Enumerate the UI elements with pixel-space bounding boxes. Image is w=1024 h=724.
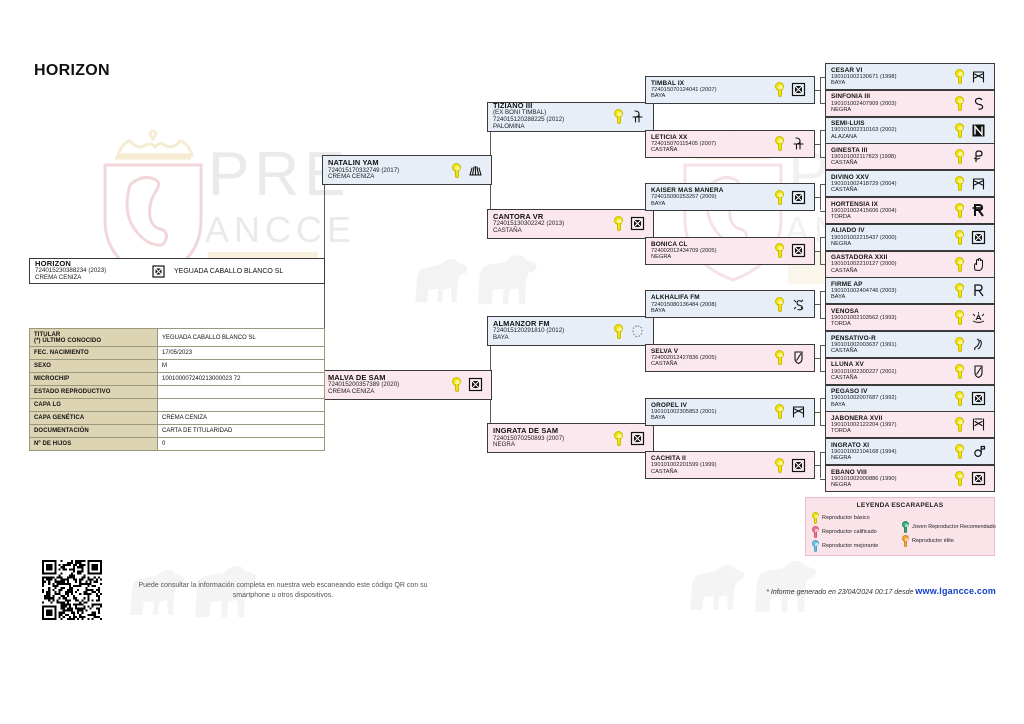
horse-number: 724015120291810 (2012) <box>493 328 614 335</box>
horse-coat: CASTAÑA <box>493 228 614 235</box>
horse-coat: NEGRA <box>831 241 955 247</box>
horse-name: VENOSA <box>831 308 955 315</box>
connector-line <box>820 237 821 264</box>
rosette-green-icon <box>902 521 909 533</box>
brand-hand-icon <box>970 257 986 272</box>
connector-line <box>820 184 821 211</box>
pedigree-box-g4-3[interactable]: SEMI-LUIS190101002310163 (2002)ALAZANA <box>825 117 995 144</box>
rosette-icon <box>955 123 964 138</box>
brand-a-rays-icon <box>970 310 986 325</box>
pedigree-box-g4-11[interactable]: PENSATIVO-R190101002003637 (1991)CASTAÑA <box>825 331 995 358</box>
horse-coat: BAYA <box>651 415 775 421</box>
brand-hook-four-icon <box>629 109 645 124</box>
rosette-icon <box>775 350 784 365</box>
info-value: 17/05/2023 <box>158 347 325 360</box>
horse-name: PENSATIVO-R <box>831 335 955 342</box>
horse-name: ALKHALIFA FM <box>651 294 775 301</box>
rosette-icon <box>452 163 461 178</box>
legend-label: Reproductor mejorante <box>822 543 878 549</box>
info-key: TITULAR(*) ÚLTIMO CONOCIDO <box>30 329 158 347</box>
legend-item: Reproductor mejorante <box>812 540 898 552</box>
legend-item: Reproductor básico <box>812 512 898 524</box>
legend-item: Reproductor élite <box>902 535 988 547</box>
info-key: FEC. NACIMIENTO <box>30 347 158 360</box>
horse-name: LLUNA XV <box>831 361 955 368</box>
rosette-icon <box>775 243 784 258</box>
brand-s-rays-icon <box>790 297 806 312</box>
info-row: ESTADO REPRODUCTIVO <box>30 386 325 399</box>
pedigree-box-g4-4[interactable]: GINESTA III190101002117823 (1998)CASTAÑA <box>825 143 995 170</box>
horse-name: GINESTA III <box>831 147 955 154</box>
horse-name: EBANO VIII <box>831 469 955 476</box>
brand-bowtie-bars-icon <box>970 417 986 432</box>
info-key: SEXO <box>30 360 158 373</box>
rosette-icon <box>955 364 964 379</box>
pedigree-box-g4-14[interactable]: JABONERA XVII190101002122204 (1997)TORDA <box>825 411 995 438</box>
rosette-icon <box>955 69 964 84</box>
rosette-icon <box>955 176 964 191</box>
horse-coat: BAYA <box>831 402 955 408</box>
connector-line <box>820 398 821 425</box>
horse-coat: PALOMINA <box>493 124 614 131</box>
pedigree-box-g4-6[interactable]: HORTENSIA IX190101002415606 (2004)TORDA <box>825 197 995 224</box>
rosette-icon <box>955 149 964 164</box>
info-value: 100100007240213000023 72 <box>158 373 325 386</box>
brand-crown-rays-icon <box>467 163 483 178</box>
info-row: SEXOM <box>30 360 325 373</box>
rosette-icon <box>775 458 784 473</box>
horse-coat: TORDA <box>831 321 955 327</box>
info-row: Nº DE HIJOS0 <box>30 438 325 451</box>
brand-square-icon <box>150 264 166 279</box>
horse-name: KAISER MAS MANERA <box>651 187 775 194</box>
horse-name: PEGASO IV <box>831 388 955 395</box>
connector-line <box>820 77 821 104</box>
pedigree-box-g3-6[interactable]: SELVA V724002012427836 (2005)CASTAÑA <box>645 344 815 372</box>
rosette-icon <box>452 377 461 392</box>
info-key: DOCUMENTACIÓN <box>30 425 158 438</box>
brand-square-icon <box>629 216 645 231</box>
horse-coat: CASTAÑA <box>651 469 775 475</box>
rosette-orange-icon <box>902 535 909 547</box>
brand-n-block-icon <box>970 123 986 138</box>
pedigree-box-g2-2[interactable]: CANTORA VR724015130302242 (2013)CASTAÑA <box>487 209 654 239</box>
horse-coat: CASTAÑA <box>831 375 955 381</box>
rosette-icon <box>614 216 623 231</box>
horse-coat: BAYA <box>831 80 955 86</box>
info-key: CAPA GENÉTICA <box>30 412 158 425</box>
brand-square-icon <box>790 82 806 97</box>
qr-code <box>42 560 102 620</box>
horse-coat: BAYA <box>493 335 614 342</box>
brand-square-icon <box>970 471 986 486</box>
pedigree-box-g4-7[interactable]: ALIADO IV190101002215437 (2000)NEGRA <box>825 224 995 251</box>
rosette-icon <box>614 109 623 124</box>
legend-label: Reproductor calificado <box>822 529 877 535</box>
horse-name: DIVINO XXV <box>831 174 955 181</box>
brand-square-icon <box>790 243 806 258</box>
info-row: CAPA GENÉTICACREMA CENIZA <box>30 412 325 425</box>
horse-coat: CASTAÑA <box>831 268 955 274</box>
horse-name: SELVA V <box>651 348 775 355</box>
horse-coat: BAYA <box>831 294 955 300</box>
horse-coat: CASTAÑA <box>651 361 775 367</box>
brand-hook-four-icon <box>790 136 806 151</box>
horse-coat: CASTAÑA <box>831 187 955 193</box>
info-value: CREMA CENIZA <box>158 412 325 425</box>
pedigree-box-g2-4[interactable]: INGRATA DE SAM724015070250893 (2007)NEGR… <box>487 423 654 453</box>
horse-name: HORTENSIA IX <box>831 201 955 208</box>
pedigree-box-g4-16[interactable]: EBANO VIII190101002000886 (1990)NEGRA <box>825 465 995 492</box>
brand-square-icon <box>790 458 806 473</box>
pedigree-box-g3-4[interactable]: BONICA CL724002012434709 (2005)NEGRA <box>645 237 815 265</box>
info-value: YEGUADA CABALLO BLANCO SL <box>158 329 325 347</box>
horse-coat: TORDA <box>831 428 955 434</box>
pedigree-box-g1-dam[interactable]: MALVA DE SAM724015200357389 (2020)CREMA … <box>322 370 492 400</box>
brand-bowtie-icon <box>970 176 986 191</box>
pedigree-box-g4-10[interactable]: VENOSA190101002103562 (1993)TORDA <box>825 304 995 331</box>
footer-note: * Informe generado en 23/04/2024 00:17 d… <box>640 586 996 596</box>
horse-name: ALIADO IV <box>831 227 955 234</box>
horse-coat: ALAZANA <box>831 134 955 140</box>
horse-name: OROPEL IV <box>651 402 775 409</box>
horse-coat: CREMA CENIZA <box>328 174 452 181</box>
info-row: MICROCHIP100100007240213000023 72 <box>30 373 325 386</box>
horse-name: FIRME AP <box>831 281 955 288</box>
horse-name: JABONERA XVII <box>831 415 955 422</box>
info-value: 0 <box>158 438 325 451</box>
brand-p-curl-icon <box>970 149 986 164</box>
rosette-icon <box>955 203 964 218</box>
pedigree-box-g3-1[interactable]: TIMBAL IX724015070124041 (2007)BAYA <box>645 76 815 104</box>
brand-r-bold-icon <box>970 203 986 218</box>
horse-coat: BAYA <box>651 93 775 99</box>
legend-label: Joven Reproductor Recomendado <box>912 524 996 530</box>
subject-box[interactable]: HORIZON 724015230388234 (2023) CREMA CEN… <box>29 258 325 284</box>
rosette-yellow-icon <box>812 512 819 524</box>
qr-note: Puede consultar la información completa … <box>128 581 438 601</box>
legend-column-right: Joven Reproductor RecomendadoReproductor… <box>902 512 988 554</box>
pedigree-box-g4-2[interactable]: SINFONIA III190101002407909 (2003)NEGRA <box>825 90 995 117</box>
horse-coat: NEGRA <box>831 455 955 461</box>
info-value <box>158 386 325 399</box>
pedigree-box-g3-2[interactable]: LETICIA XX724015070115405 (2007)CASTAÑA <box>645 130 815 158</box>
horse-coat: CREMA CENIZA <box>328 389 452 396</box>
rosette-icon <box>775 190 784 205</box>
brand-bowtie-icon <box>790 404 806 419</box>
horse-coat: BAYA <box>651 308 775 314</box>
horse-coat: CASTAÑA <box>831 160 955 166</box>
brand-square-icon <box>629 431 645 446</box>
horses-watermark <box>395 235 575 310</box>
info-value <box>158 399 325 412</box>
rosette-icon <box>775 297 784 312</box>
horse-coat: NEGRA <box>831 107 955 113</box>
connector-line <box>820 452 821 479</box>
rosette-icon <box>614 324 623 339</box>
pedigree-box-g4-9[interactable]: FIRME AP190101002404746 (2003)BAYA <box>825 277 995 304</box>
rosette-icon <box>955 471 964 486</box>
legend-item: Reproductor calificado <box>812 526 898 538</box>
footer-url[interactable]: www.lgancce.com <box>915 586 996 596</box>
horse-coat: CASTAÑA <box>831 348 955 354</box>
info-row: DOCUMENTACIÓNCARTA DE TITULARIDAD <box>30 425 325 438</box>
pedigree-box-g4-12[interactable]: LLUNA XV190101002300227 (2001)CASTAÑA <box>825 358 995 385</box>
info-value: CARTA DE TITULARIDAD <box>158 425 325 438</box>
brand-square-icon <box>970 391 986 406</box>
horse-info-table: TITULAR(*) ÚLTIMO CONOCIDOYEGUADA CABALL… <box>29 328 325 451</box>
legend-column-left: Reproductor básicoReproductor calificado… <box>812 512 898 554</box>
brand-shield-slash-icon <box>970 364 986 379</box>
pedigree-box-g3-7[interactable]: OROPEL IV190101002305853 (2001)BAYA <box>645 398 815 426</box>
rosette-blue-icon <box>812 540 819 552</box>
horse-name: LETICIA XX <box>651 134 775 141</box>
horse-name: CACHITA II <box>651 455 775 462</box>
legend-title: LEYENDA ESCARAPELAS <box>812 502 988 509</box>
brand-square-icon <box>467 377 483 392</box>
info-value: M <box>158 360 325 373</box>
rosette-red-icon <box>812 526 819 538</box>
subject-coat: CREMA CENIZA <box>35 275 150 282</box>
brand-bowtie-icon <box>970 69 986 84</box>
info-key: CAPA LG <box>30 399 158 412</box>
brand-shield-slash-icon <box>790 350 806 365</box>
page-title: HORIZON <box>34 62 110 80</box>
info-row: CAPA LG <box>30 399 325 412</box>
rosette-icon <box>775 136 784 151</box>
rosette-icon <box>955 283 964 298</box>
horse-coat: NEGRA <box>651 254 775 260</box>
rosette-icon <box>775 404 784 419</box>
brand-s-icon <box>970 96 986 111</box>
brand-square-icon <box>790 190 806 205</box>
pedigree-box-g2-1[interactable]: TIZIANO III(EX BONI TIMBAL)7240151202882… <box>487 102 654 132</box>
brand-script-icon <box>970 337 986 352</box>
rosette-icon <box>955 391 964 406</box>
horse-name: GASTADORA XXII <box>831 254 955 261</box>
horse-name: SINFONIA III <box>831 93 955 100</box>
pedigree-box-g4-5[interactable]: DIVINO XXV190101002418729 (2004)CASTAÑA <box>825 170 995 197</box>
rosette-icon <box>955 96 964 111</box>
info-key: MICROCHIP <box>30 373 158 386</box>
pedigree-box-g1-sire[interactable]: NATALIN YAM724015170332749 (2017)CREMA C… <box>322 155 492 185</box>
horse-coat: BAYA <box>651 201 775 207</box>
pedigree-box-g4-1[interactable]: CESAR VI190101002130671 (1998)BAYA <box>825 63 995 90</box>
horse-name: SEMI-LUIS <box>831 120 955 127</box>
svg-text:ANCCE: ANCCE <box>205 209 356 250</box>
horse-name: BONICA CL <box>651 241 775 248</box>
connector-line <box>820 291 821 318</box>
connector-line <box>820 130 821 157</box>
rosette-icon <box>955 444 964 459</box>
subject-owner: YEGUADA CABALLO BLANCO SL <box>170 268 320 275</box>
pedigree-box-g3-5[interactable]: ALKHALIFA FM724015080136484 (2008)BAYA <box>645 290 815 318</box>
connector-line <box>820 345 821 372</box>
legend-label: Reproductor élite <box>912 538 954 544</box>
legend-label: Reproductor básico <box>822 515 870 521</box>
info-key: ESTADO REPRODUCTIVO <box>30 386 158 399</box>
info-key: Nº DE HIJOS <box>30 438 158 451</box>
pedigree-box-g3-3[interactable]: KAISER MAS MANERA724015090253257 (2009)B… <box>645 183 815 211</box>
horse-name: CESAR VI <box>831 67 955 74</box>
horse-coat: CASTAÑA <box>651 147 775 153</box>
rosette-icon <box>614 431 623 446</box>
brand-square-icon <box>970 230 986 245</box>
horse-name: TIMBAL IX <box>651 80 775 87</box>
rosette-icon <box>955 337 964 352</box>
info-row: TITULAR(*) ÚLTIMO CONOCIDOYEGUADA CABALL… <box>30 329 325 347</box>
rosette-icon <box>955 257 964 272</box>
brand-r-icon <box>970 283 986 298</box>
brand-dotted-shield-icon <box>629 324 645 339</box>
horse-coat: NEGRA <box>831 482 955 488</box>
pedigree-box-g2-3[interactable]: ALMANZOR FM724015120291810 (2012)BAYA <box>487 316 654 346</box>
pedigree-box-g4-8[interactable]: GASTADORA XXII190101002210127 (2000)CAST… <box>825 251 995 278</box>
info-row: FEC. NACIMIENTO17/05/2023 <box>30 347 325 360</box>
horse-coat: TORDA <box>831 214 955 220</box>
horse-coat: NEGRA <box>493 442 614 449</box>
pedigree-box-g3-8[interactable]: CACHITA II190101002201599 (1999)CASTAÑA <box>645 451 815 479</box>
legend-escarapelas: LEYENDA ESCARAPELAS Reproductor básicoRe… <box>805 497 995 556</box>
footer-text: * Informe generado en 23/04/2024 00:17 d… <box>766 589 915 596</box>
legend-item: Joven Reproductor Recomendado <box>902 521 988 533</box>
rosette-icon <box>955 230 964 245</box>
rosette-icon <box>955 310 964 325</box>
pedigree-box-g4-15[interactable]: INGRATO XI190101002104168 (1994)NEGRA <box>825 438 995 465</box>
rosette-icon <box>955 417 964 432</box>
rosette-icon <box>775 82 784 97</box>
horse-name: INGRATO XI <box>831 442 955 449</box>
brand-d-flag-icon <box>970 444 986 459</box>
pedigree-box-g4-13[interactable]: PEGASO IV190101002007687 (1992)BAYA <box>825 385 995 412</box>
